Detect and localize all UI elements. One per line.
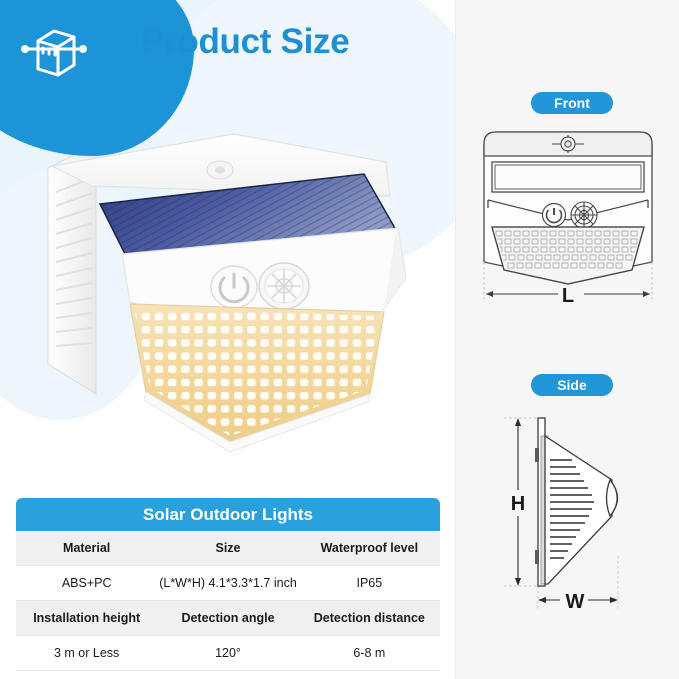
table-cell: Waterproof level xyxy=(299,531,440,566)
dimension-label-height: H xyxy=(511,493,525,515)
spec-table-title: Solar Outdoor Lights xyxy=(16,498,440,531)
table-cell: Material xyxy=(16,531,157,566)
table-cell: IP65 xyxy=(299,566,440,601)
led-light-panel xyxy=(130,304,390,449)
table-cell: 6-8 m xyxy=(299,636,440,671)
pir-motion-sensor xyxy=(259,263,309,309)
table-cell: Detection angle xyxy=(157,601,298,636)
front-view-diagram: L xyxy=(462,122,674,307)
table-row: ABS+PC (L*W*H) 4.1*3.3*1.7 inch IP65 xyxy=(16,566,440,601)
solar-outdoor-light-photo xyxy=(34,126,434,456)
table-cell: Detection distance xyxy=(299,601,440,636)
table-cell: Size xyxy=(157,531,298,566)
badge-side-view: Side xyxy=(531,374,613,396)
box-measure-icon xyxy=(20,15,90,85)
table-row: Installation height Detection angle Dete… xyxy=(16,601,440,636)
table-cell: ABS+PC xyxy=(16,566,157,601)
spec-table: Solar Outdoor Lights Material Size Water… xyxy=(16,498,440,671)
dimension-label-width: W xyxy=(566,591,585,613)
table-row: 3 m or Less 120° 6-8 m xyxy=(16,636,440,671)
dimension-label-length: L xyxy=(562,285,574,307)
spec-table-body: Material Size Waterproof level ABS+PC (L… xyxy=(16,531,440,671)
header: Product Size xyxy=(0,0,456,110)
badge-front-view: Front xyxy=(531,92,613,114)
table-row: Material Size Waterproof level xyxy=(16,531,440,566)
product-size-infographic: Product Size xyxy=(0,0,679,679)
power-button-icon xyxy=(211,266,257,308)
table-cell: (L*W*H) 4.1*3.3*1.7 inch xyxy=(157,566,298,601)
table-cell: 3 m or Less xyxy=(16,636,157,671)
table-cell: 120° xyxy=(157,636,298,671)
table-cell: Installation height xyxy=(16,601,157,636)
page-title: Product Size xyxy=(141,22,349,62)
top-mount-screw xyxy=(207,161,233,179)
side-view-diagram: H W xyxy=(462,404,674,619)
